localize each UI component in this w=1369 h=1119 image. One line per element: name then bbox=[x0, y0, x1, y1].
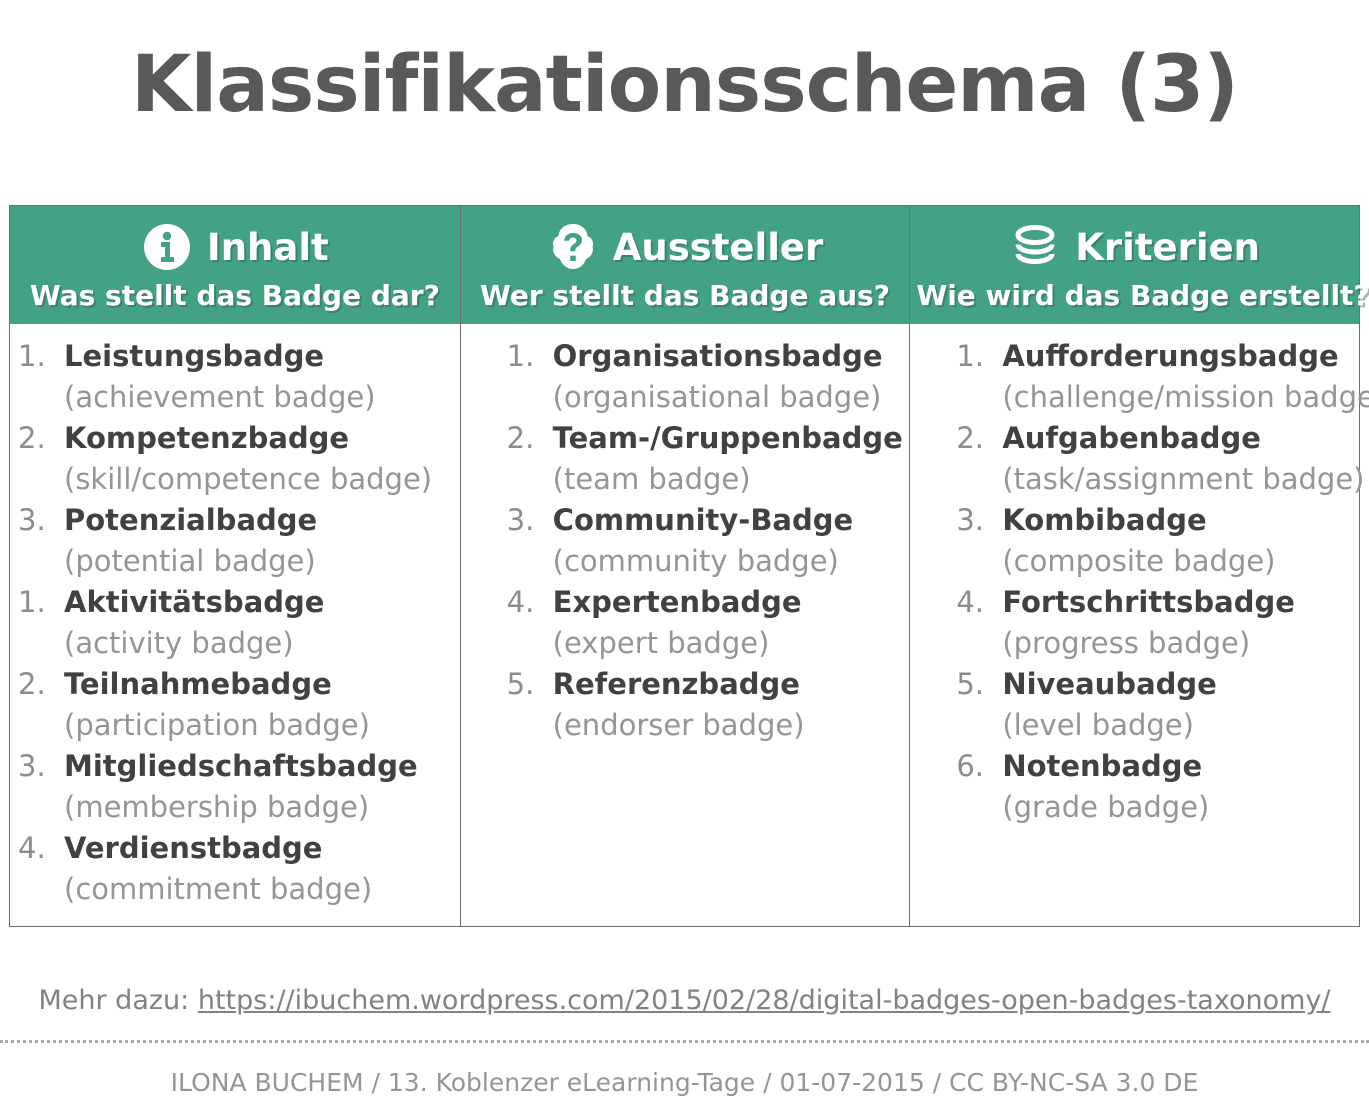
badge-item-name-de: Potenzialbadge bbox=[64, 500, 450, 541]
badge-item-number: 4. bbox=[18, 828, 64, 869]
badge-item-name-en: (membership badge) bbox=[64, 787, 450, 828]
badge-item-name-en: (organisational badge) bbox=[553, 377, 900, 418]
more-info-line: Mehr dazu: https://ibuchem.wordpress.com… bbox=[0, 985, 1369, 1016]
badge-item-name-de: Expertenbadge bbox=[553, 582, 900, 623]
badge-item-texts: Leistungsbadge(achievement badge) bbox=[64, 336, 450, 418]
badge-item-number: 1. bbox=[956, 336, 1002, 377]
badge-item-name-de: Fortschrittsbadge bbox=[1002, 582, 1349, 623]
badge-item-texts: Aufforderungsbadge(challenge/mission bad… bbox=[1002, 336, 1349, 418]
column-subtitle-inhalt: Was stellt das Badge dar? bbox=[16, 279, 454, 312]
badge-item-name-en: (potential badge) bbox=[64, 541, 450, 582]
badge-list-item: 2.Aufgabenbadge(task/assignment badge) bbox=[956, 418, 1349, 500]
badge-item-name-de: Community-Badge bbox=[553, 500, 900, 541]
badge-item-number: 3. bbox=[956, 500, 1002, 541]
footer-divider bbox=[0, 1040, 1369, 1043]
badge-list-kriterien: 1.Aufforderungsbadge(challenge/mission b… bbox=[956, 336, 1349, 828]
more-info-label: Mehr dazu: bbox=[38, 985, 189, 1016]
classification-table: Inhalt Was stellt das Badge dar? Ausstel… bbox=[9, 205, 1360, 927]
badge-item-name-en: (participation badge) bbox=[64, 705, 450, 746]
badge-item-name-en: (commitment badge) bbox=[64, 869, 450, 910]
badge-item-name-de: Aufgabenbadge bbox=[1002, 418, 1349, 459]
credit-line: ILONA BUCHEM / 13. Koblenzer eLearning-T… bbox=[0, 1068, 1369, 1097]
badge-item-texts: Notenbadge(grade badge) bbox=[1002, 746, 1349, 828]
badge-item-name-de: Niveaubadge bbox=[1002, 664, 1349, 705]
badge-item-name-en: (progress badge) bbox=[1002, 623, 1349, 664]
page-title: Klassifikationsschema (3) bbox=[0, 0, 1369, 124]
badge-item-texts: Referenzbadge(endorser badge) bbox=[553, 664, 900, 746]
badge-list-item: 3.Community-Badge(community badge) bbox=[507, 500, 900, 582]
badge-item-name-en: (challenge/mission badge) bbox=[1002, 377, 1349, 418]
column-body-kriterien: 1.Aufforderungsbadge(challenge/mission b… bbox=[909, 324, 1359, 926]
badge-list-item: 4.Verdienstbadge(commitment badge) bbox=[18, 828, 450, 910]
badge-item-texts: Kompetenzbadge(skill/competence badge) bbox=[64, 418, 450, 500]
badge-item-number: 2. bbox=[956, 418, 1002, 459]
badge-list-item: 3.Mitgliedschaftsbadge(membership badge) bbox=[18, 746, 450, 828]
badge-list-item: 3.Kombibadge(composite badge) bbox=[956, 500, 1349, 582]
badge-item-texts: Teilnahmebadge(participation badge) bbox=[64, 664, 450, 746]
column-title-inhalt: Inhalt bbox=[207, 226, 329, 269]
badge-item-name-en: (task/assignment badge) bbox=[1002, 459, 1349, 500]
badge-list-item: 3.Potenzialbadge(potential badge) bbox=[18, 500, 450, 582]
info-circle-icon bbox=[141, 221, 193, 273]
badge-list-item: 6.Notenbadge(grade badge) bbox=[956, 746, 1349, 828]
column-header-inhalt: Inhalt Was stellt das Badge dar? bbox=[10, 206, 460, 324]
column-body-aussteller: 1.Organisationsbadge(organisational badg… bbox=[460, 324, 910, 926]
badge-list-item: 1.Aufforderungsbadge(challenge/mission b… bbox=[956, 336, 1349, 418]
column-subtitle-kriterien: Wie wird das Badge erstellt? bbox=[916, 279, 1353, 312]
badge-item-number: 5. bbox=[956, 664, 1002, 705]
column-title-kriterien: Kriterien bbox=[1075, 226, 1260, 269]
badge-item-name-de: Mitgliedschaftsbadge bbox=[64, 746, 450, 787]
badge-item-name-de: Verdienstbadge bbox=[64, 828, 450, 869]
column-subtitle-aussteller: Wer stellt das Badge aus? bbox=[467, 279, 904, 312]
badge-item-name-en: (composite badge) bbox=[1002, 541, 1349, 582]
column-header-aussteller: Aussteller Wer stellt das Badge aus? bbox=[460, 206, 910, 324]
badge-item-texts: Mitgliedschaftsbadge(membership badge) bbox=[64, 746, 450, 828]
badge-item-number: 2. bbox=[18, 664, 64, 705]
badge-list-item: 2.Teilnahmebadge(participation badge) bbox=[18, 664, 450, 746]
badge-item-name-en: (level badge) bbox=[1002, 705, 1349, 746]
badge-item-texts: Kombibadge(composite badge) bbox=[1002, 500, 1349, 582]
badge-item-number: 2. bbox=[18, 418, 64, 459]
badge-item-texts: Niveaubadge(level badge) bbox=[1002, 664, 1349, 746]
badge-list-item: 4.Fortschrittsbadge(progress badge) bbox=[956, 582, 1349, 664]
badge-item-texts: Organisationsbadge(organisational badge) bbox=[553, 336, 900, 418]
column-header-kriterien: Kriterien Wie wird das Badge erstellt? bbox=[909, 206, 1359, 324]
badge-item-name-en: (team badge) bbox=[553, 459, 900, 500]
badge-item-number: 4. bbox=[956, 582, 1002, 623]
badge-item-texts: Fortschrittsbadge(progress badge) bbox=[1002, 582, 1349, 664]
badge-item-name-en: (activity badge) bbox=[64, 623, 450, 664]
badge-list-item: 1.Aktivitätsbadge(activity badge) bbox=[18, 582, 450, 664]
badge-item-name-en: (expert badge) bbox=[553, 623, 900, 664]
badge-list-item: 1.Leistungsbadge(achievement badge) bbox=[18, 336, 450, 418]
badge-item-name-en: (skill/competence badge) bbox=[64, 459, 450, 500]
badge-item-name-de: Referenzbadge bbox=[553, 664, 900, 705]
badge-item-number: 3. bbox=[18, 500, 64, 541]
badge-item-number: 1. bbox=[18, 336, 64, 377]
table-body-row: 1.Leistungsbadge(achievement badge)2.Kom… bbox=[10, 324, 1359, 926]
badge-list-item: 5.Niveaubadge(level badge) bbox=[956, 664, 1349, 746]
badge-item-texts: Community-Badge(community badge) bbox=[553, 500, 900, 582]
badge-item-name-de: Kompetenzbadge bbox=[64, 418, 450, 459]
badge-list-inhalt: 1.Leistungsbadge(achievement badge)2.Kom… bbox=[18, 336, 450, 910]
badge-item-number: 3. bbox=[507, 500, 553, 541]
badge-list-item: 2.Kompetenzbadge(skill/competence badge) bbox=[18, 418, 450, 500]
badge-list-aussteller: 1.Organisationsbadge(organisational badg… bbox=[507, 336, 900, 746]
taxonomy-blog-link[interactable]: https://ibuchem.wordpress.com/2015/02/28… bbox=[198, 985, 1331, 1016]
table-header-row: Inhalt Was stellt das Badge dar? Ausstel… bbox=[10, 206, 1359, 324]
badge-list-item: 2.Team-/Gruppenbadge(team badge) bbox=[507, 418, 900, 500]
badge-item-number: 6. bbox=[956, 746, 1002, 787]
column-title-aussteller: Aussteller bbox=[613, 226, 824, 269]
badge-item-name-de: Kombibadge bbox=[1002, 500, 1349, 541]
column-body-inhalt: 1.Leistungsbadge(achievement badge)2.Kom… bbox=[10, 324, 460, 926]
badge-item-texts: Potenzialbadge(potential badge) bbox=[64, 500, 450, 582]
badge-item-texts: Aktivitätsbadge(activity badge) bbox=[64, 582, 450, 664]
badge-list-item: 4.Expertenbadge(expert badge) bbox=[507, 582, 900, 664]
badge-item-name-de: Notenbadge bbox=[1002, 746, 1349, 787]
badge-item-texts: Aufgabenbadge(task/assignment badge) bbox=[1002, 418, 1349, 500]
badge-list-item: 5.Referenzbadge(endorser badge) bbox=[507, 664, 900, 746]
badge-item-number: 1. bbox=[507, 336, 553, 377]
badge-item-texts: Expertenbadge(expert badge) bbox=[553, 582, 900, 664]
badge-item-number: 3. bbox=[18, 746, 64, 787]
badge-item-name-de: Organisationsbadge bbox=[553, 336, 900, 377]
badge-item-name-de: Teilnahmebadge bbox=[64, 664, 450, 705]
badge-item-number: 4. bbox=[507, 582, 553, 623]
question-mark-badge-icon bbox=[547, 221, 599, 273]
badge-item-name-de: Aufforderungsbadge bbox=[1002, 336, 1349, 377]
badge-item-texts: Team-/Gruppenbadge(team badge) bbox=[553, 418, 900, 500]
stacked-discs-icon bbox=[1009, 221, 1061, 273]
badge-item-number: 1. bbox=[18, 582, 64, 623]
badge-item-name-en: (endorser badge) bbox=[553, 705, 900, 746]
badge-item-name-en: (grade badge) bbox=[1002, 787, 1349, 828]
badge-list-item: 1.Organisationsbadge(organisational badg… bbox=[507, 336, 900, 418]
badge-item-name-en: (community badge) bbox=[553, 541, 900, 582]
badge-item-number: 5. bbox=[507, 664, 553, 705]
badge-item-name-de: Team-/Gruppenbadge bbox=[553, 418, 900, 459]
badge-item-name-de: Leistungsbadge bbox=[64, 336, 450, 377]
badge-item-texts: Verdienstbadge(commitment badge) bbox=[64, 828, 450, 910]
badge-item-number: 2. bbox=[507, 418, 553, 459]
badge-item-name-de: Aktivitätsbadge bbox=[64, 582, 450, 623]
badge-item-name-en: (achievement badge) bbox=[64, 377, 450, 418]
